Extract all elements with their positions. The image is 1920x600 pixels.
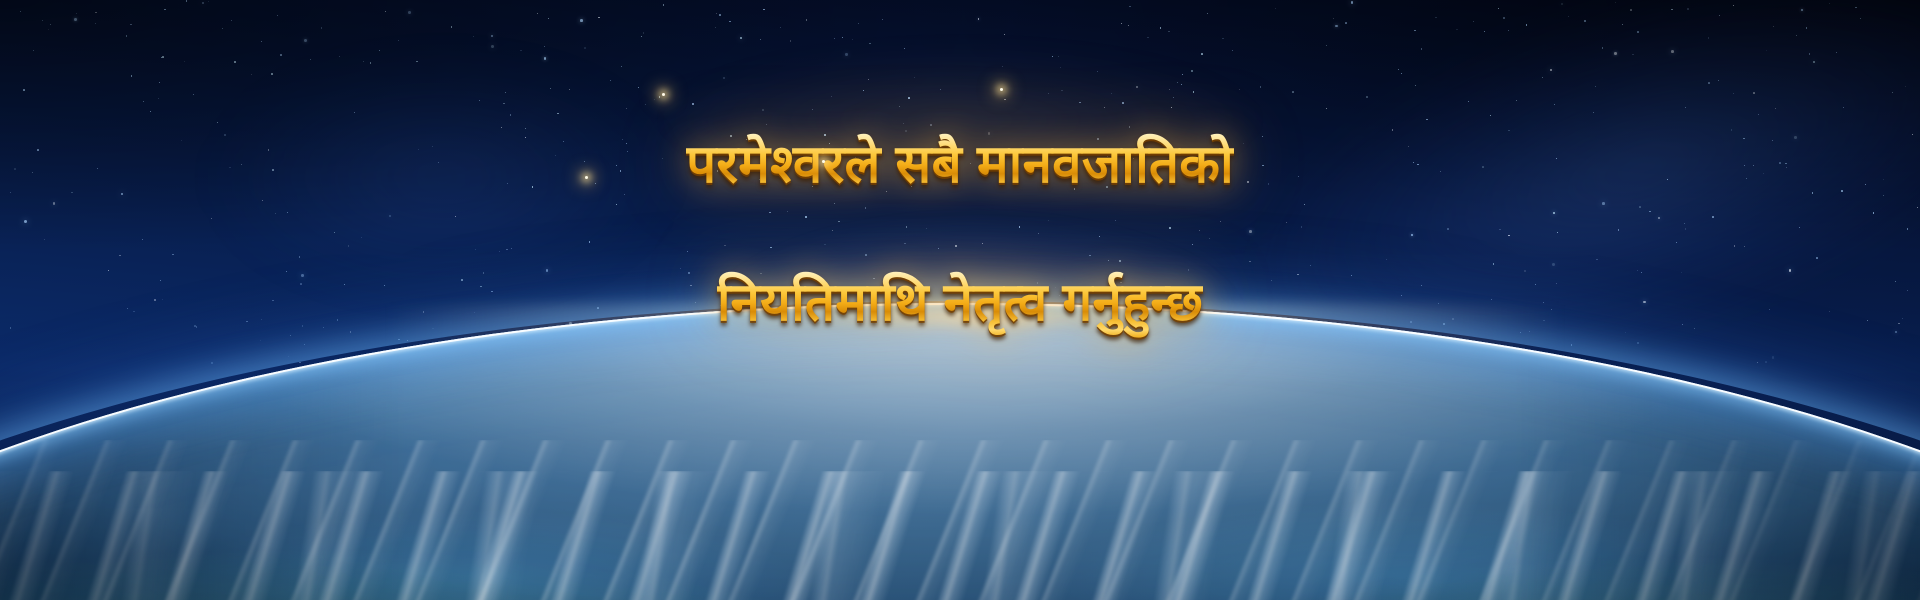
title-line-2: नियतिमाथि नेतृत्व गर्नुहुन्छ [0,269,1920,338]
title-line-1: परमेश्वरले सबै मानवजातिको [0,131,1920,200]
page-title: परमेश्वरले सबै मानवजातिको नियतिमाथि नेतृ… [0,62,1920,406]
banner-image: परमेश्वरले सबै मानवजातिको नियतिमाथि नेतृ… [0,0,1920,600]
